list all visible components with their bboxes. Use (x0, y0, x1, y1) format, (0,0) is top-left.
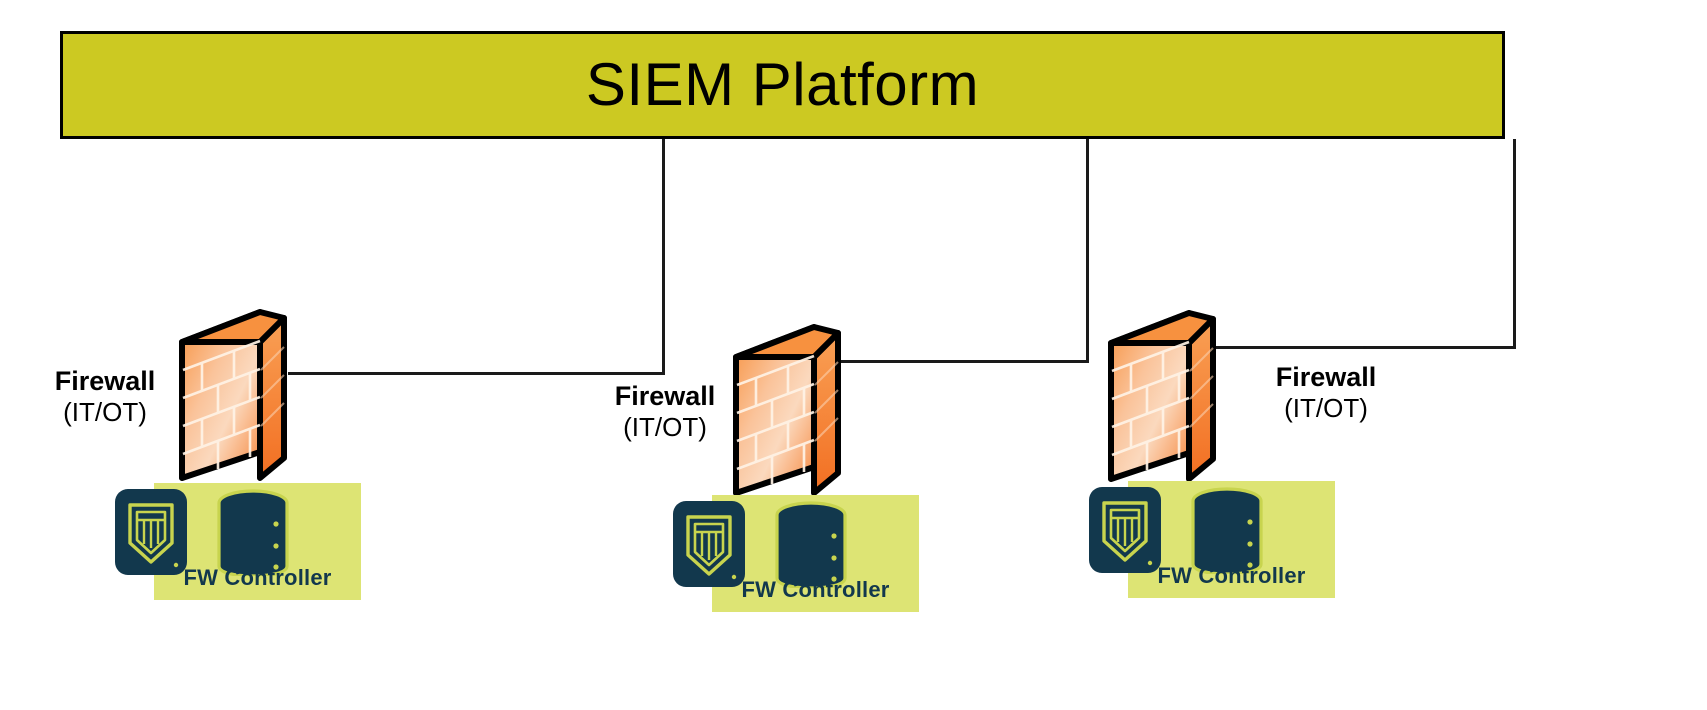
database-icon (214, 488, 292, 576)
connector-vertical-branch-2 (1086, 139, 1089, 363)
connector-horizontal-branch-1 (288, 372, 665, 375)
fw-controller-card-branch-1[interactable]: FW Controller (154, 483, 361, 600)
connector-horizontal-branch-2 (836, 360, 1089, 363)
firewall-brick-wall-icon[interactable] (726, 321, 844, 496)
firewall-brick-wall-icon[interactable] (172, 306, 290, 481)
firewall-label-branch-2: Firewall (IT/OT) (595, 381, 735, 442)
shield-logo-icon (1088, 486, 1162, 574)
database-icon (1188, 486, 1266, 574)
fw-controller-card-branch-2[interactable]: FW Controller (712, 495, 919, 612)
firewall-label-branch-3: Firewall (IT/OT) (1246, 362, 1406, 423)
shield-logo-icon (672, 500, 746, 588)
firewall-label-line2: (IT/OT) (1246, 393, 1406, 423)
fw-controller-label: FW Controller (712, 577, 919, 603)
connector-vertical-branch-1 (662, 139, 665, 375)
firewall-label-line2: (IT/OT) (30, 397, 180, 427)
fw-controller-card-branch-3[interactable]: FW Controller (1128, 481, 1335, 598)
diagram-canvas: SIEM Platform (0, 0, 1707, 710)
firewall-brick-wall-icon[interactable] (1101, 307, 1219, 482)
siem-platform-title: SIEM Platform (586, 55, 979, 115)
siem-platform-banner[interactable]: SIEM Platform (60, 31, 1505, 139)
database-icon (772, 500, 850, 588)
firewall-label-branch-1: Firewall (IT/OT) (30, 366, 180, 427)
fw-controller-label: FW Controller (1128, 563, 1335, 589)
firewall-label-line1: Firewall (595, 381, 735, 412)
connector-vertical-branch-3 (1513, 139, 1516, 349)
fw-controller-label: FW Controller (154, 565, 361, 591)
connector-horizontal-branch-3 (1211, 346, 1516, 349)
firewall-label-line1: Firewall (30, 366, 180, 397)
firewall-label-line1: Firewall (1246, 362, 1406, 393)
shield-logo-icon (114, 488, 188, 576)
firewall-label-line2: (IT/OT) (595, 412, 735, 442)
